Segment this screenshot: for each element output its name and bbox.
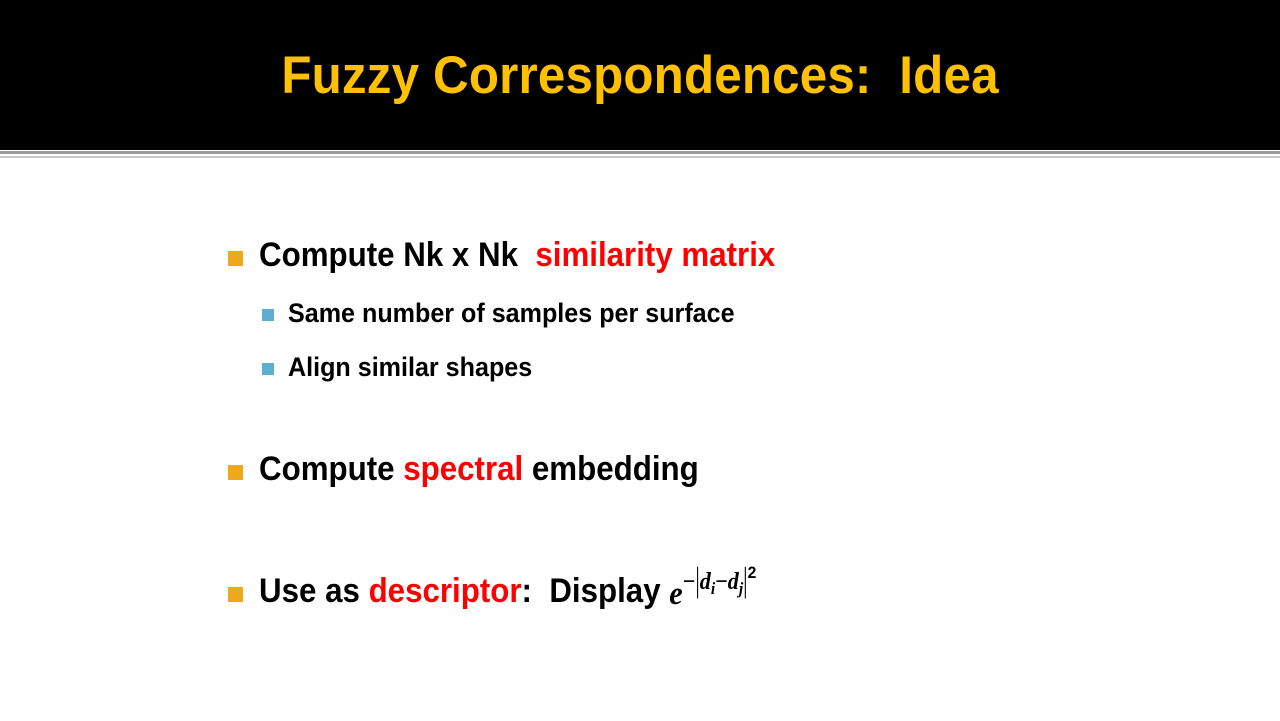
bullet-marker-square-orange (228, 251, 243, 266)
slide-body: Compute Nk x Nk similarity matrix Same n… (0, 160, 1280, 721)
bullet-text-1-part-1: Compute Nk x Nk (259, 236, 535, 274)
bullet-marker-square-orange (228, 587, 243, 602)
bullet-text-4: Compute spectral embedding (259, 447, 699, 491)
title-divider-upper (0, 151, 1280, 154)
slide: Fuzzy Correspondences: Idea Compute Nk x… (0, 0, 1280, 721)
formula-base-e: e (669, 576, 682, 612)
title-divider-lower (0, 156, 1280, 158)
bullet-text-5-part-2: descriptor (369, 572, 522, 610)
bullet-marker-square-blue (262, 363, 274, 375)
bullet-item-1: Compute Nk x Nk similarity matrix (228, 233, 820, 277)
formula-exponent-minus: − (683, 569, 696, 595)
formula-abs-bar-left: | (695, 564, 699, 599)
bullet-marker-square-blue (262, 309, 274, 321)
formula-d-first: d (700, 569, 711, 595)
formula-d-first-subscript: i (711, 579, 715, 598)
bullet-item-2: Same number of samples per surface (262, 296, 768, 330)
bullet-text-5-part-3: : Display (522, 572, 670, 610)
bullet-text-4-part-3: embedding (523, 450, 699, 488)
page-title: Fuzzy Correspondences: Idea (45, 0, 1235, 150)
bullet-item-4: Compute spectral embedding (228, 447, 737, 491)
bullet-text-2: Same number of samples per surface (288, 296, 735, 330)
bullet-item-5: Use as descriptor: Display e−|di−dj|2 (228, 569, 800, 613)
formula-d-second: d (728, 569, 739, 595)
math-formula-descriptor: e−|di−dj|2 (669, 578, 756, 611)
bullet-text-4-part-1: Compute (259, 450, 403, 488)
bullet-text-3: Align similar shapes (288, 350, 532, 384)
bullet-text-1: Compute Nk x Nk similarity matrix (259, 233, 775, 277)
bullet-text-4-part-2: spectral (403, 450, 523, 488)
bullet-text-1-part-2: similarity matrix (535, 236, 775, 274)
formula-inner-minus: − (715, 569, 728, 595)
bullet-text-5-part-1: Use as (259, 572, 369, 610)
bullet-text-5: Use as descriptor: Display e−|di−dj|2 (259, 569, 756, 613)
bullet-marker-square-orange (228, 465, 243, 480)
formula-exponent: −|di−dj|2 (683, 569, 757, 595)
formula-power-two: 2 (748, 563, 757, 582)
bullet-item-3: Align similar shapes (262, 350, 551, 384)
